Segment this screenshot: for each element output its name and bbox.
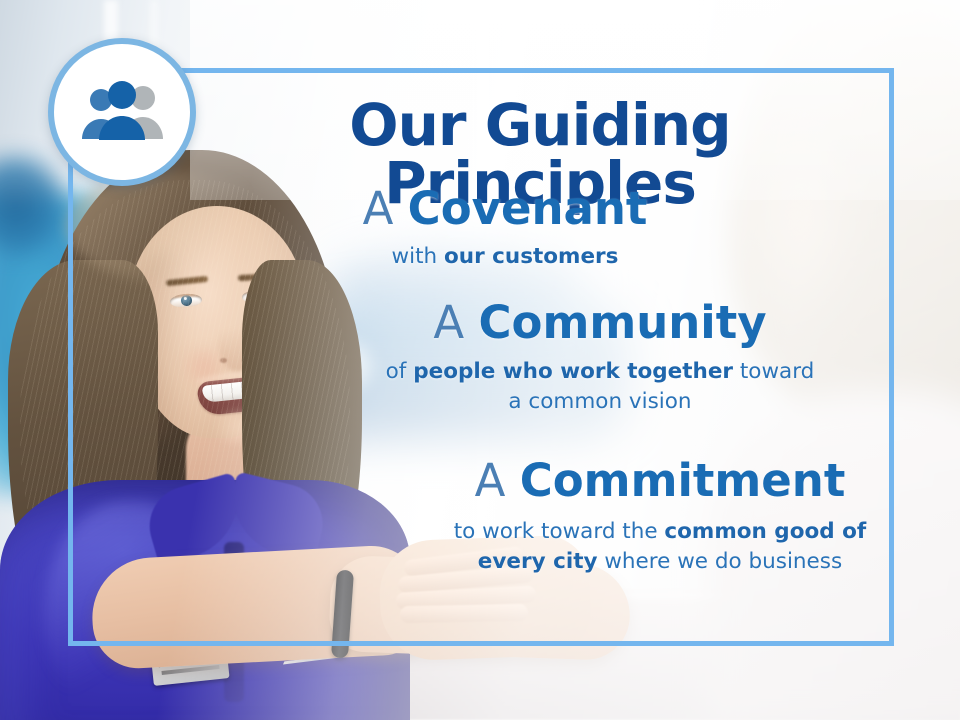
people-group-icon [76,81,168,143]
principle-title: A Covenant [340,186,670,232]
promotional-graphic: FLOW FLOW [0,0,960,720]
principle-article: A [433,296,464,349]
principle-covenant: A Covenant with our customers [340,186,670,272]
subtext-emphasis: our customers [444,244,618,269]
principle-subtext: to work toward the common good of every … [440,517,880,578]
principle-title: A Community [380,300,820,346]
principle-article: A [475,454,506,507]
subtext-run: of [386,359,414,384]
principle-keyword: Covenant [408,182,648,235]
finger [400,604,528,623]
principle-commitment: A Commitment to work toward the common g… [440,458,880,578]
subtext-emphasis: people who work together [413,359,733,384]
principle-title: A Commitment [440,458,880,504]
subtext-run: with [392,244,444,269]
principle-keyword: Commitment [520,454,846,507]
principle-keyword: Community [479,296,767,349]
subtext-run: where we do business [598,549,843,574]
principle-subtext: of people who work together toward a com… [380,357,820,418]
principle-article: A [363,182,394,235]
people-group-badge [48,38,196,186]
subtext-run: to work toward the [454,519,665,544]
principle-subtext: with our customers [340,242,670,273]
principle-community: A Community of people who work together … [380,300,820,418]
